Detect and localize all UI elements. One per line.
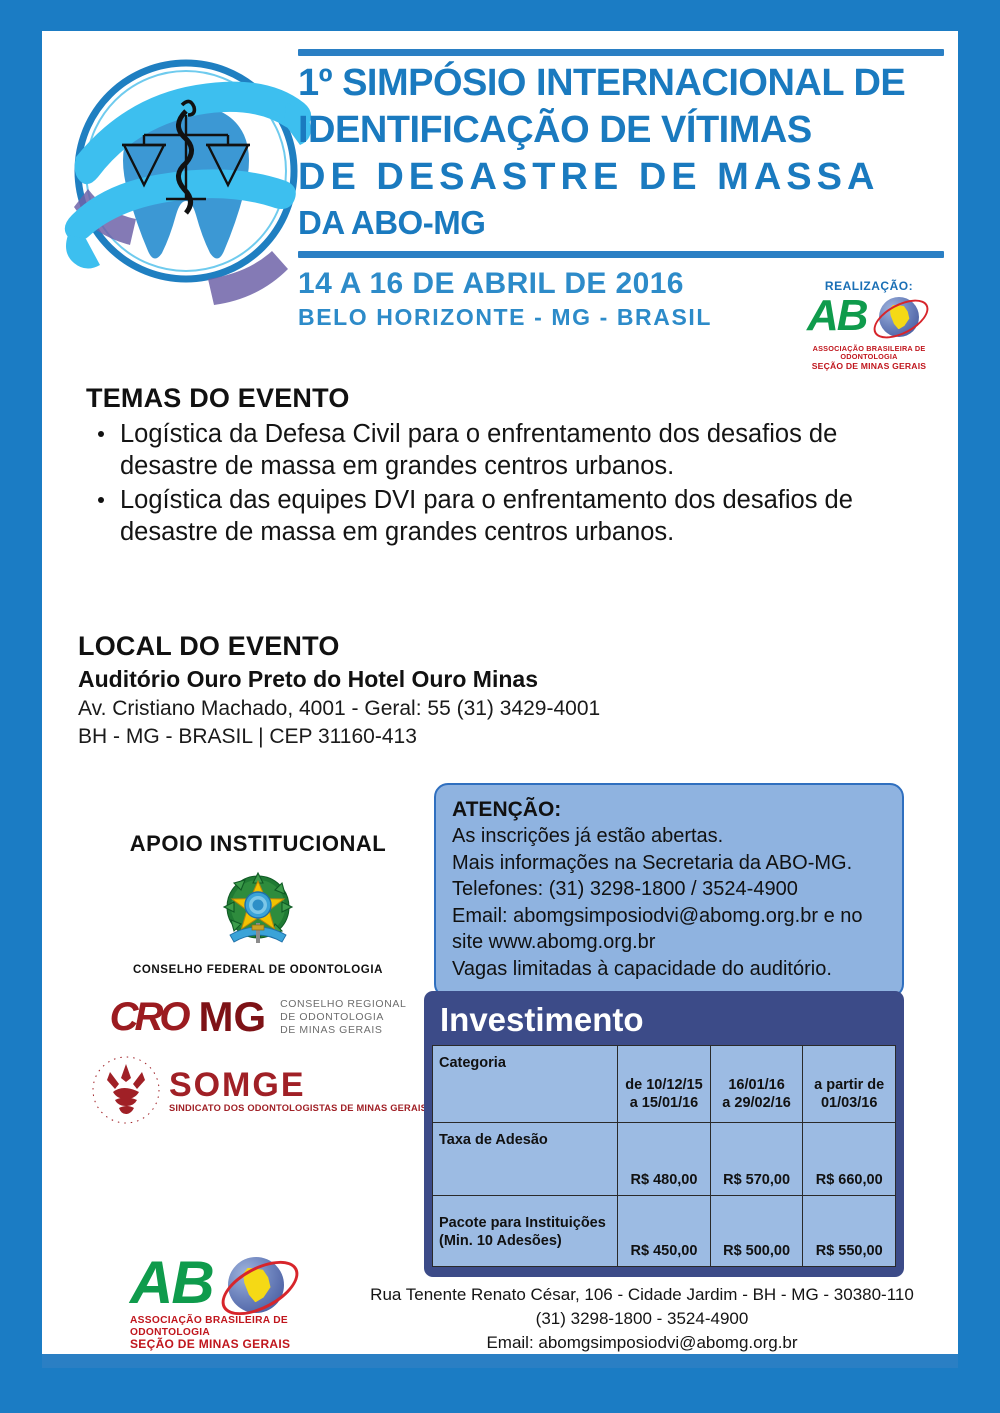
column-header-category: Categoria bbox=[433, 1046, 618, 1123]
abo-logo-icon-large: AB ASSOCIAÇÃO BRASILEIRA DE ODONTOLOGIA … bbox=[130, 1253, 340, 1352]
cfo-logo-block: CONSELHO FEDERAL DE ODONTOLOGIA bbox=[78, 871, 438, 976]
cro-mg-logo-block: CRO MG CONSELHO REGIONAL DE ODONTOLOGIA … bbox=[78, 996, 438, 1038]
table-header-row: Categoria de 10/12/15 a 15/01/16 16/01/1… bbox=[433, 1046, 896, 1123]
title-line-3: DE DESASTRE DE MASSA bbox=[290, 154, 950, 201]
somge-hand-icon bbox=[89, 1054, 163, 1126]
column-header-period-1: de 10/12/15 a 15/01/16 bbox=[618, 1046, 711, 1123]
somge-logo-block: SOMGE SINDICATO DOS ODONTOLOGISTAS DE MI… bbox=[78, 1054, 438, 1126]
table-row: Pacote para Instituições (Min. 10 Adesõe… bbox=[433, 1196, 896, 1267]
abo-subtitle-2-large: SEÇÃO DE MINAS GERAIS bbox=[130, 1338, 340, 1352]
somge-subtitle: SINDICATO DOS ODONTOLOGISTAS DE MINAS GE… bbox=[169, 1103, 427, 1113]
abo-logo-icon-small: AB bbox=[801, 294, 937, 340]
venue-address-line-1: Av. Cristiano Machado, 4001 - Geral: 55 … bbox=[78, 695, 718, 723]
title-line-1: 1º SIMPÓSIO INTERNACIONAL DE bbox=[290, 60, 950, 107]
column-header-period-3: a partir de 01/03/16 bbox=[803, 1046, 896, 1123]
attention-line-2: Mais informações na Secretaria da ABO-MG… bbox=[452, 850, 886, 877]
price-taxa-period-2: R$ 570,00 bbox=[710, 1123, 803, 1196]
cro-mg-wordmark: MG bbox=[198, 996, 266, 1038]
cro-description-line-1: CONSELHO REGIONAL bbox=[280, 998, 406, 1011]
themes-list: Logística da Defesa Civil para o enfrent… bbox=[86, 418, 876, 548]
cro-wordmark: CRO bbox=[110, 997, 187, 1037]
somge-wordmark: SOMGE bbox=[169, 1068, 427, 1102]
theme-text: Logística das equipes DVI para o enfrent… bbox=[120, 486, 853, 546]
realizacao-block: REALIZAÇÃO: AB ASSOCIAÇÃO BRASILEIRA DE … bbox=[794, 279, 944, 372]
theme-text: Logística da Defesa Civil para o enfrent… bbox=[120, 420, 837, 480]
price-taxa-period-3: R$ 660,00 bbox=[803, 1123, 896, 1196]
cro-description-line-3: DE MINAS GERAIS bbox=[280, 1024, 406, 1037]
cro-description-line-2: DE ODONTOLOGIA bbox=[280, 1011, 406, 1024]
local-section: LOCAL DO EVENTO Auditório Ouro Preto do … bbox=[78, 631, 718, 751]
attention-line-5: site www.abomg.org.br bbox=[452, 929, 886, 956]
list-item: Logística das equipes DVI para o enfrent… bbox=[86, 484, 876, 548]
footer-phones: (31) 3298-1800 - 3524-4900 bbox=[342, 1307, 942, 1331]
attention-line-1: As inscrições já estão abertas. bbox=[452, 823, 886, 850]
cro-description: CONSELHO REGIONAL DE ODONTOLOGIA DE MINA… bbox=[280, 998, 406, 1037]
title-line-4: DA ABO-MG bbox=[290, 201, 950, 245]
abo-letters-large: AB bbox=[130, 1253, 213, 1313]
abo-subtitle-1-large: ASSOCIAÇÃO BRASILEIRA DE ODONTOLOGIA bbox=[130, 1315, 340, 1338]
row-label-taxa: Taxa de Adesão bbox=[433, 1123, 618, 1196]
price-taxa-period-1: R$ 480,00 bbox=[618, 1123, 711, 1196]
investment-panel: Investimento Categoria de 10/12/15 a 15/… bbox=[424, 991, 904, 1277]
venue-address-line-2: BH - MG - BRASIL | CEP 31160-413 bbox=[78, 723, 718, 751]
investment-title: Investimento bbox=[432, 997, 896, 1045]
table-row: Taxa de Adesão R$ 480,00 R$ 570,00 R$ 66… bbox=[433, 1123, 896, 1196]
row-label-pacote: Pacote para Instituições (Min. 10 Adesõe… bbox=[433, 1196, 618, 1267]
venue-name: Auditório Ouro Preto do Hotel Ouro Minas bbox=[78, 664, 718, 695]
attention-line-4: Email: abomgsimposiodvi@abomg.org.br e n… bbox=[452, 903, 886, 930]
column-header-period-2: 16/01/16 a 29/02/16 bbox=[710, 1046, 803, 1123]
themes-section: TEMAS DO EVENTO Logística da Defesa Civi… bbox=[86, 383, 876, 550]
event-logo-icon bbox=[58, 39, 316, 317]
themes-heading: TEMAS DO EVENTO bbox=[86, 383, 876, 414]
price-pacote-period-3: R$ 550,00 bbox=[803, 1196, 896, 1267]
abo-letters-small: AB bbox=[807, 294, 867, 338]
title-line-2: IDENTIFICAÇÃO DE VÍTIMAS bbox=[290, 107, 950, 154]
title-rule-top bbox=[298, 49, 944, 56]
local-heading: LOCAL DO EVENTO bbox=[78, 631, 718, 662]
apoio-section: APOIO INSTITUCIONAL bbox=[78, 831, 438, 1126]
footer-rule bbox=[42, 1354, 958, 1368]
brazil-coat-of-arms-icon bbox=[212, 871, 304, 955]
attention-line-6: Vagas limitadas à capacidade do auditóri… bbox=[452, 956, 886, 983]
attention-box: ATENÇÃO: As inscrições já estão abertas.… bbox=[434, 783, 904, 998]
poster-header: 1º SIMPÓSIO INTERNACIONAL DE IDENTIFICAÇ… bbox=[42, 31, 958, 361]
title-rule-bottom bbox=[298, 251, 944, 258]
footer-email: Email: abomgsimposiodvi@abomg.org.br bbox=[342, 1331, 942, 1355]
cfo-caption: CONSELHO FEDERAL DE ODONTOLOGIA bbox=[78, 964, 438, 976]
bullet-icon bbox=[98, 497, 104, 503]
abo-subtitle-2-small: SEÇÃO DE MINAS GERAIS bbox=[794, 362, 944, 372]
attention-line-3: Telefones: (31) 3298-1800 / 3524-4900 bbox=[452, 876, 886, 903]
row-label-pacote-main: Pacote para Instituições bbox=[439, 1214, 611, 1232]
row-label-pacote-sub: (Min. 10 Adesões) bbox=[439, 1232, 611, 1250]
footer-address: Rua Tenente Renato César, 106 - Cidade J… bbox=[342, 1283, 942, 1307]
abo-subtitle-1-small: ASSOCIAÇÃO BRASILEIRA DE ODONTOLOGIA bbox=[794, 345, 944, 362]
poster-page: 1º SIMPÓSIO INTERNACIONAL DE IDENTIFICAÇ… bbox=[42, 31, 958, 1368]
price-pacote-period-2: R$ 500,00 bbox=[710, 1196, 803, 1267]
list-item: Logística da Defesa Civil para o enfrent… bbox=[86, 418, 876, 482]
price-pacote-period-1: R$ 450,00 bbox=[618, 1196, 711, 1267]
pricing-table: Categoria de 10/12/15 a 15/01/16 16/01/1… bbox=[432, 1045, 896, 1267]
bullet-icon bbox=[98, 431, 104, 437]
apoio-heading: APOIO INSTITUCIONAL bbox=[78, 831, 438, 857]
attention-heading: ATENÇÃO: bbox=[452, 797, 886, 823]
